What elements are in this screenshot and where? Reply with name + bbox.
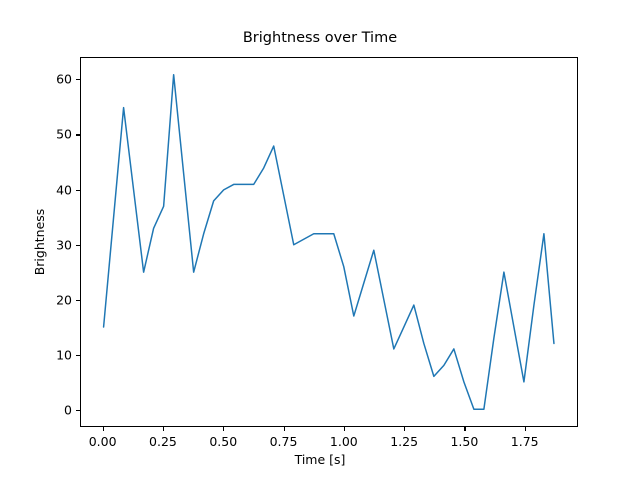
y-tick-label: 10 — [20, 348, 72, 363]
x-tick-label: 1.25 — [390, 434, 418, 449]
plot-area — [80, 57, 578, 427]
x-tick-mark — [344, 427, 345, 431]
y-tick-label: 50 — [20, 127, 72, 142]
y-tick-label: 40 — [20, 182, 72, 197]
y-tick-label: 30 — [20, 237, 72, 252]
x-tick-label: 0.75 — [270, 434, 298, 449]
y-tick-label: 20 — [20, 292, 72, 307]
y-tick-label: 0 — [20, 403, 72, 418]
x-tick-label: 0.25 — [149, 434, 177, 449]
x-tick-mark — [404, 427, 405, 431]
x-tick-mark — [284, 427, 285, 431]
series-polyline — [104, 75, 554, 410]
y-tick-label: 60 — [20, 72, 72, 87]
chart-title: Brightness over Time — [0, 30, 640, 46]
x-tick-label: 1.75 — [511, 434, 539, 449]
x-tick-mark — [103, 427, 104, 431]
x-tick-label: 1.00 — [330, 434, 358, 449]
x-axis-label: Time [s] — [0, 452, 640, 467]
x-tick-label: 0.00 — [89, 434, 117, 449]
x-tick-mark — [464, 427, 465, 431]
x-tick-mark — [223, 427, 224, 431]
x-tick-label: 0.50 — [209, 434, 237, 449]
chart-figure: Brightness over Time Brightness Time [s]… — [0, 0, 640, 480]
x-tick-mark — [525, 427, 526, 431]
line-series-brightness — [81, 58, 577, 426]
x-tick-mark — [163, 427, 164, 431]
x-tick-label: 1.50 — [450, 434, 478, 449]
